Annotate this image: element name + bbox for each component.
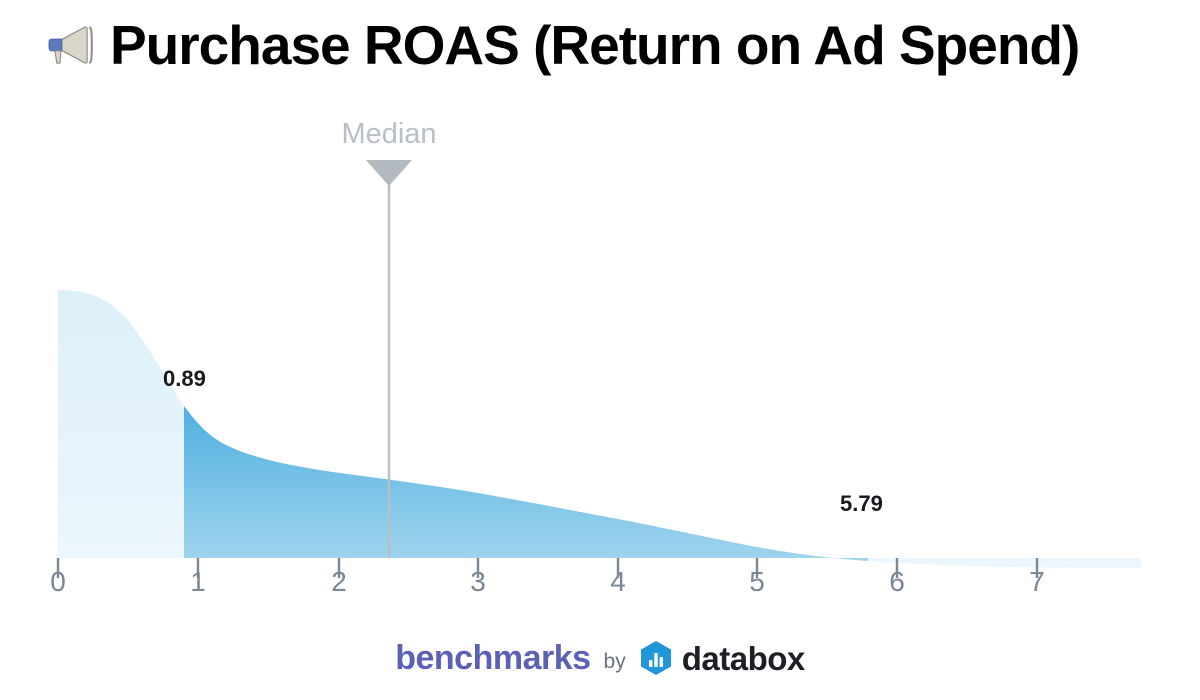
x-tick-label-5: 5 <box>749 568 765 596</box>
databox-wordmark: databox <box>682 642 805 675</box>
x-tick-label-2: 2 <box>331 568 347 596</box>
low-value-label: 0.89 <box>163 366 206 392</box>
x-tick-label-0: 0 <box>50 568 66 596</box>
megaphone-icon <box>40 16 98 74</box>
chart-page: Purchase ROAS (Return on Ad Spend) <box>0 0 1200 700</box>
x-tick-label-4: 4 <box>610 568 626 596</box>
page-title: Purchase ROAS (Return on Ad Spend) <box>40 8 1079 82</box>
high-value-label: 5.79 <box>840 491 883 517</box>
benchmarks-wordmark: benchmarks <box>395 641 590 675</box>
databox-brand: databox <box>639 640 805 676</box>
x-tick-label-7: 7 <box>1029 568 1045 596</box>
x-tick-label-3: 3 <box>470 568 486 596</box>
distribution-chart <box>0 100 1200 620</box>
title-text: Purchase ROAS (Return on Ad Spend) <box>110 18 1079 73</box>
by-label: by <box>604 651 626 672</box>
area-highlight-range <box>58 290 1141 568</box>
databox-hexagon-icon <box>639 640 673 676</box>
x-tick-label-1: 1 <box>190 568 206 596</box>
median-label: Median <box>341 118 436 151</box>
chart-svg <box>0 100 1200 620</box>
footer-branding: benchmarks by databox <box>0 640 1200 676</box>
x-tick-label-6: 6 <box>889 568 905 596</box>
